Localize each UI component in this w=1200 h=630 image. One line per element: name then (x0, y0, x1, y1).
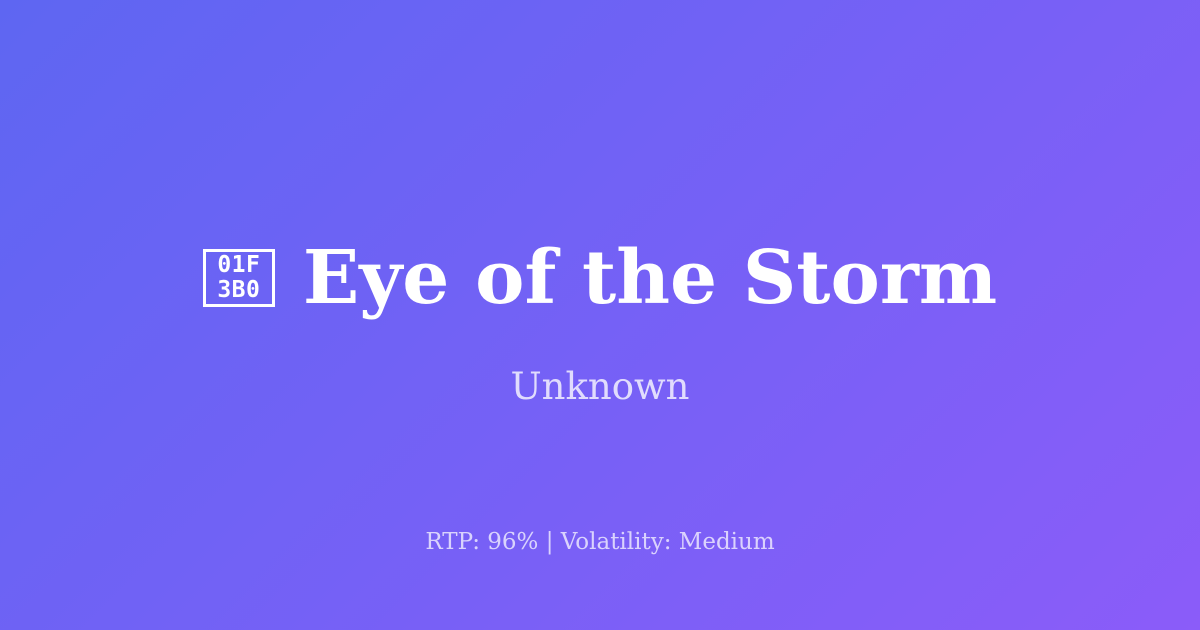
slot-machine-icon: 01F 3B0 (203, 249, 275, 307)
game-meta: RTP: 96% | Volatility: Medium (0, 528, 1200, 557)
tofu-hex-top: 01F (217, 253, 260, 278)
title-row: 01F 3B0 Eye of the Storm (0, 236, 1200, 320)
game-provider: Unknown (0, 364, 1200, 410)
page-title: Eye of the Storm (303, 236, 997, 320)
game-og-card: 01F 3B0 Eye of the Storm Unknown RTP: 96… (0, 0, 1200, 630)
tofu-hex-bottom: 3B0 (217, 278, 260, 303)
